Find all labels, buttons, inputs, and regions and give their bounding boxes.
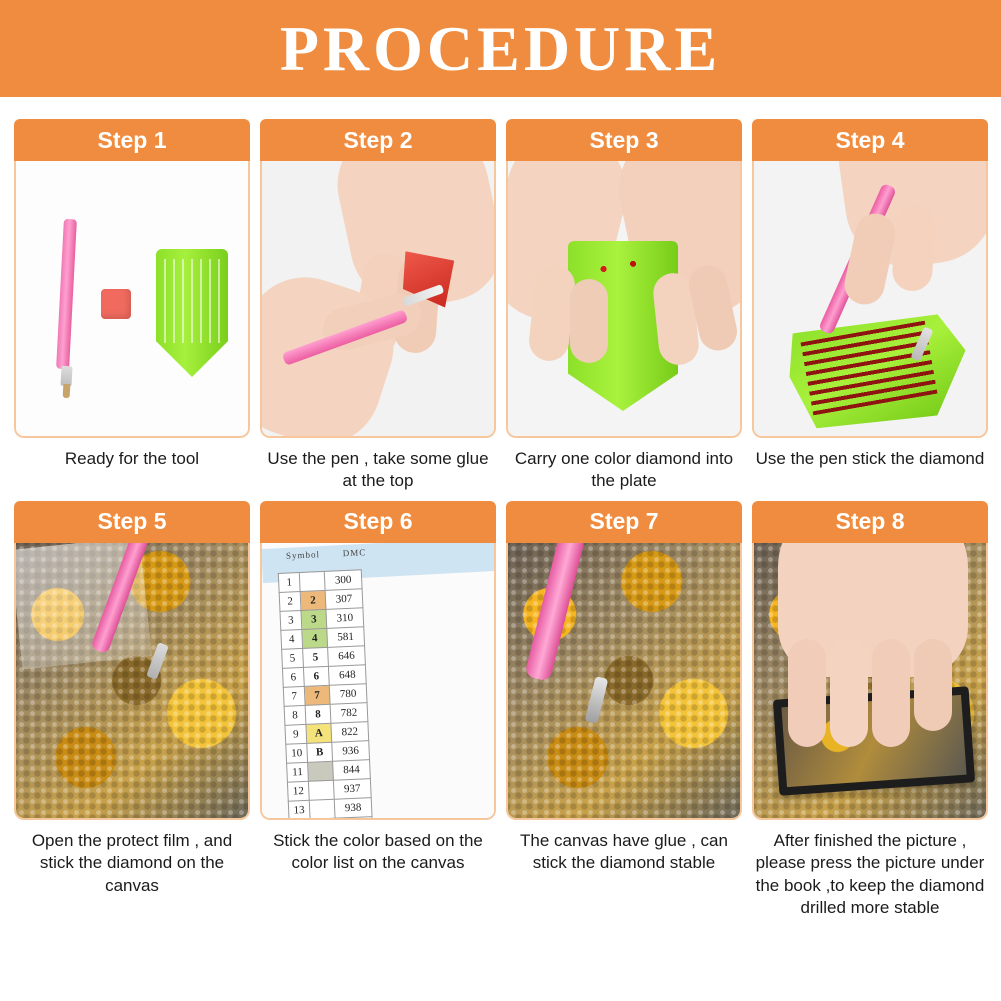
row-dmc-code: 307 (325, 589, 363, 610)
page-title: PROCEDURE (280, 12, 721, 86)
pressing-picture-photo (754, 543, 986, 818)
row-index: 10 (286, 743, 308, 763)
glue-photo (262, 161, 494, 436)
step-label-5: Step 5 (97, 508, 166, 535)
step-image-7 (506, 543, 742, 820)
row-index: 11 (287, 762, 309, 782)
row-dmc-code: 648 (328, 665, 366, 686)
step-image-6: Symbol DMC 13002230733310445815564666648… (260, 543, 496, 820)
step-caption-2: Use the pen , take some glue at the top (260, 448, 496, 493)
step-header-1: Step 1 (14, 119, 250, 161)
row-symbol: 4 (302, 628, 328, 648)
pink-pen-icon (56, 219, 77, 369)
step-header-3: Step 3 (506, 119, 742, 161)
step-caption-6: Stick the color based on the color list … (260, 830, 496, 875)
row-dmc-code: 581 (327, 627, 365, 648)
row-symbol: 8 (305, 704, 331, 724)
step-card-8: Step 8 After finished the picture , plea… (752, 501, 988, 920)
step-card-5: Step 5 Open the protect film , and stick… (14, 501, 250, 920)
chart-header-symbol: Symbol (286, 549, 320, 560)
finger-icon (570, 279, 608, 363)
finger-icon (830, 639, 868, 747)
row-symbol: 7 (304, 685, 330, 705)
step-card-7: Step 7 The canvas have glue , can stick … (506, 501, 742, 920)
row-index: 6 (282, 667, 304, 687)
row-index: 7 (283, 686, 305, 706)
row-dmc-code: 646 (328, 646, 366, 667)
step-label-4: Step 4 (835, 127, 904, 154)
row-dmc-code: 780 (329, 684, 367, 705)
row-symbol (308, 780, 334, 800)
step-card-1: Step 1 Ready for the tool (14, 119, 250, 493)
row-dmc-code: 937 (333, 779, 371, 800)
finger-icon (788, 639, 826, 747)
steps-grid: Step 1 Ready for the tool Step 2 (0, 97, 1001, 920)
row-symbol (309, 799, 335, 818)
step-caption-7: The canvas have glue , can stick the dia… (506, 830, 742, 875)
step-card-3: Step 3 Carry one color diamond into the … (506, 119, 742, 493)
row-dmc-code: 822 (331, 722, 369, 743)
step-label-8: Step 8 (835, 508, 904, 535)
row-index: 13 (288, 800, 310, 818)
row-dmc-code: 936 (332, 741, 370, 762)
chart-header-dmc: DMC (343, 547, 367, 558)
row-index: 12 (287, 781, 309, 801)
table-row: 13938 (288, 797, 372, 817)
step-image-5 (14, 543, 250, 820)
canvas-film-photo (16, 543, 248, 818)
diamonds-in-tray-photo (508, 161, 740, 436)
step-header-8: Step 8 (752, 501, 988, 543)
row-symbol: A (306, 723, 332, 743)
row-symbol: 6 (303, 666, 329, 686)
pen-picking-photo (754, 161, 986, 436)
row-symbol: 2 (300, 590, 326, 610)
row-symbol (308, 761, 334, 781)
step-caption-5: Open the protect film , and stick the di… (14, 830, 250, 897)
step-caption-4: Use the pen stick the diamond (752, 448, 988, 470)
step-image-4 (752, 161, 988, 438)
row-index: 4 (281, 629, 303, 649)
row-index: 3 (280, 610, 302, 630)
pen-nib-icon (63, 384, 71, 398)
green-tray-icon (156, 249, 228, 377)
step-image-8 (752, 543, 988, 820)
row-symbol: 3 (301, 609, 327, 629)
step-image-2 (260, 161, 496, 438)
step-label-7: Step 7 (589, 508, 658, 535)
step-header-6: Step 6 (260, 501, 496, 543)
row-symbol (299, 571, 325, 591)
color-list-photo: Symbol DMC 13002230733310445815564666648… (262, 543, 494, 818)
step-caption-8: After finished the picture , please pres… (752, 830, 988, 920)
row-dmc-code: 300 (324, 570, 362, 591)
row-index: 9 (285, 724, 307, 744)
finger-icon (914, 639, 952, 731)
step-card-4: Step 4 Use the pen stick the diamond (752, 119, 988, 493)
row-index: 2 (279, 591, 301, 611)
step-header-5: Step 5 (14, 501, 250, 543)
step-header-2: Step 2 (260, 119, 496, 161)
finger-icon (891, 204, 937, 293)
step-header-7: Step 7 (506, 501, 742, 543)
step-image-3 (506, 161, 742, 438)
step-label-2: Step 2 (343, 127, 412, 154)
row-index: 8 (284, 705, 306, 725)
color-list-rows: 1300223073331044581556466664877780887829… (278, 570, 373, 818)
canvas-glue-photo (508, 543, 740, 818)
row-symbol: 5 (303, 647, 329, 667)
page-header: PROCEDURE (0, 0, 1001, 97)
step-label-3: Step 3 (589, 127, 658, 154)
row-index: 1 (278, 572, 300, 592)
diamond-beads-texture (508, 543, 740, 818)
row-dmc-code: 844 (333, 760, 371, 781)
row-index: 5 (282, 648, 304, 668)
row-dmc-code: 782 (330, 703, 368, 724)
step-header-4: Step 4 (752, 119, 988, 161)
row-symbol: B (307, 742, 333, 762)
step-caption-3: Carry one color diamond into the plate (506, 448, 742, 493)
row-dmc-code: 310 (326, 608, 364, 629)
procedure-page: PROCEDURE Step 1 Ready for the tool (0, 0, 1001, 1001)
step-card-6: Step 6 Symbol DMC 1300223073331044581556… (260, 501, 496, 920)
color-list-table: 1300223073331044581556466664877780887829… (278, 569, 374, 818)
glue-square-icon (101, 289, 131, 319)
step-label-1: Step 1 (97, 127, 166, 154)
step-image-1 (14, 161, 250, 438)
step-label-6: Step 6 (343, 508, 412, 535)
finger-icon (872, 639, 910, 747)
tool-photo (16, 161, 248, 436)
step-card-2: Step 2 Use the pen , take some glue at t… (260, 119, 496, 493)
row-dmc-code: 938 (334, 797, 372, 817)
step-caption-1: Ready for the tool (14, 448, 250, 470)
